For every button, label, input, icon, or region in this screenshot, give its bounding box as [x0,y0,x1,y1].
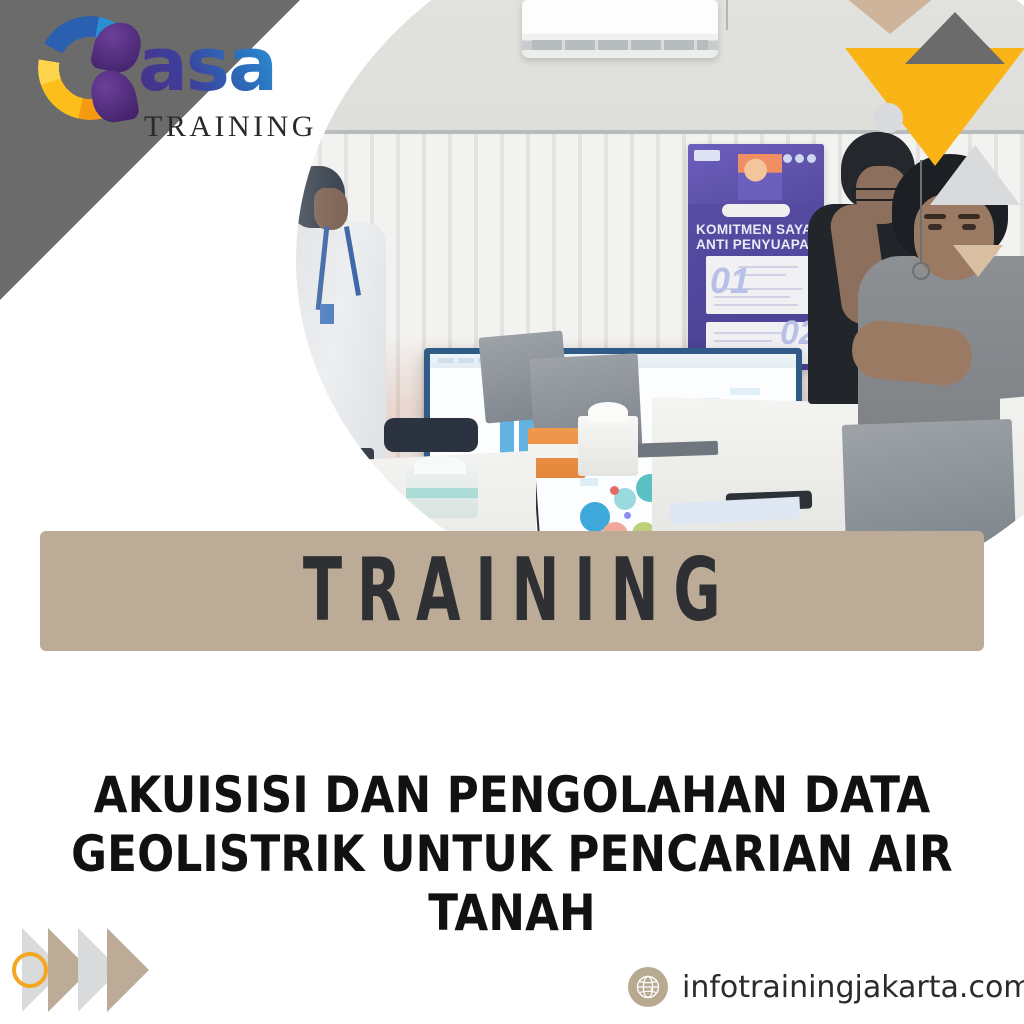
white-triangle-up-icon [930,145,1020,205]
website-footer[interactable]: infotrainingjakarta.com [628,967,1024,1007]
presenter-watch [296,434,310,448]
gray-circle-icon [873,103,903,133]
training-banner-label: TRAINING [288,541,735,642]
course-title-line-1: AKUISISI DAN PENGOLAHAN DATA [39,766,986,825]
brand-logo[interactable]: asa TRAINING [34,14,334,164]
yellow-ring-icon [12,952,48,988]
chevron-right-icon [107,928,149,1012]
small-tan-triangle-down-icon [953,245,1003,277]
globe-icon [628,967,668,1007]
logo-wordmark: asa [138,28,276,102]
course-title-line-3: TANAH [39,884,986,943]
website-url: infotrainingjakarta.com [682,970,1024,1005]
training-banner: TRAINING [40,531,984,651]
hanging-ring-icon [912,262,930,280]
presenter-trousers [296,448,374,492]
hanging-line [920,160,922,264]
logo-subtitle: TRAINING [144,110,317,144]
course-title: AKUISISI DAN PENGOLAHAN DATA GEOLISTRIK … [24,766,1000,943]
circular-gradient-c-mark-icon [34,14,146,126]
poster-canvas: KOMITMEN SAYA ANTI PENYUAPAN 01 02 [0,0,1024,1024]
gray-triangle-up-icon [905,12,1005,64]
course-title-line-2: GEOLISTRIK UNTUK PENCARIAN AIR [39,825,986,884]
